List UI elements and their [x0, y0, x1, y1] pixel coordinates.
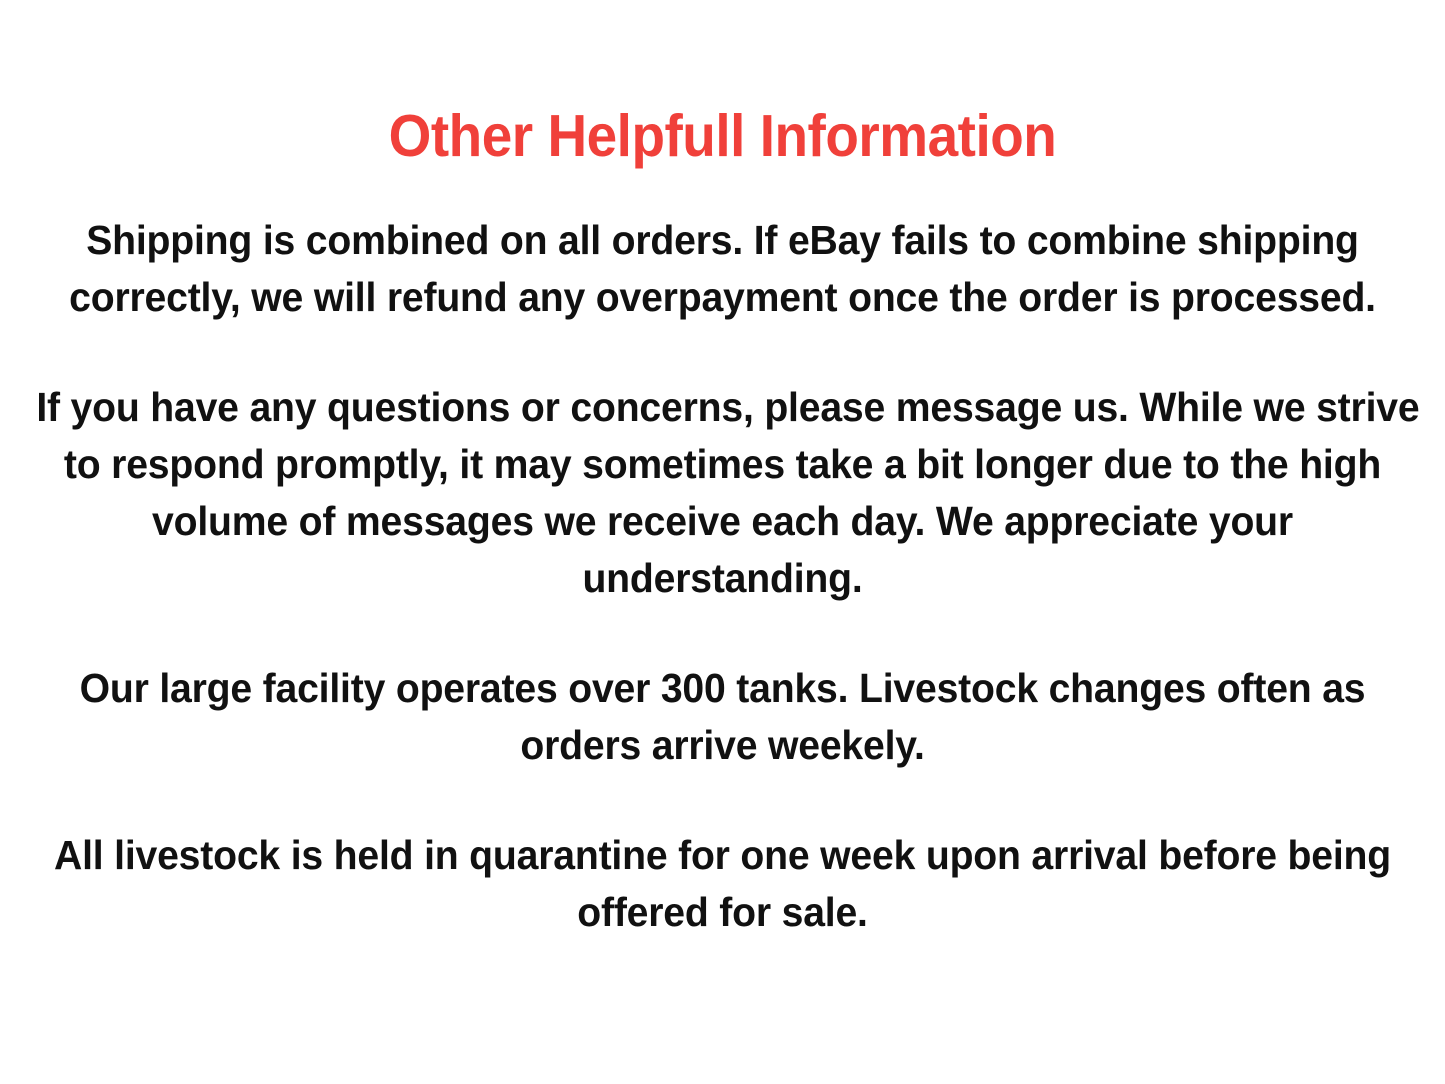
page-title: Other Helpfull Information [54, 0, 1390, 168]
paragraph-line: Shipping is combined on all orders. If e… [36, 212, 1408, 269]
paragraph-spacer [4, 607, 1441, 660]
paragraph-line: Our large facility operates over 300 tan… [36, 660, 1408, 717]
paragraph-line: correctly, we will refund any overpaymen… [36, 269, 1408, 326]
paragraph-line: orders arrive weekely. [36, 717, 1408, 774]
paragraph-line: offered for sale. [36, 884, 1408, 941]
information-body: Shipping is combined on all orders. If e… [4, 212, 1441, 941]
paragraph-line: understanding. [36, 550, 1408, 607]
paragraph-spacer [4, 774, 1441, 827]
paragraph-line: volume of messages we receive each day. … [36, 493, 1408, 550]
paragraph-quarantine-policy: All livestock is held in quarantine for … [36, 827, 1408, 941]
paragraph-spacer [4, 326, 1441, 379]
paragraph-line: to respond promptly, it may sometimes ta… [36, 436, 1408, 493]
paragraph-facility-tanks: Our large facility operates over 300 tan… [36, 660, 1408, 774]
information-panel: Other Helpfull Information Shipping is c… [0, 0, 1445, 1084]
paragraph-line: If you have any questions or concerns, p… [36, 379, 1408, 436]
paragraph-shipping-policy: Shipping is combined on all orders. If e… [36, 212, 1408, 326]
paragraph-line: All livestock is held in quarantine for … [36, 827, 1408, 884]
paragraph-message-response: If you have any questions or concerns, p… [36, 379, 1408, 607]
